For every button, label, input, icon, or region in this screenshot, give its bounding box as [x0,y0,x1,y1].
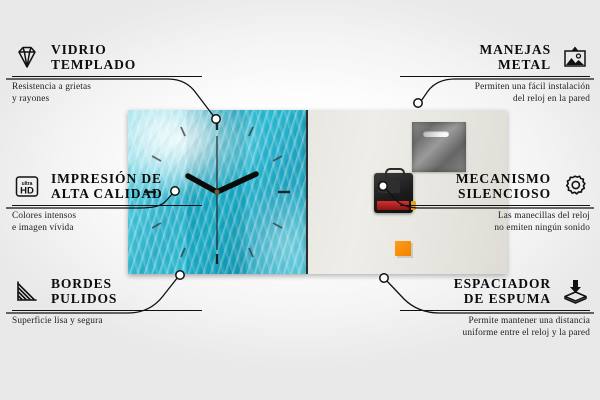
feature-header: MECANISMO SILENCIOSO [400,171,590,202]
feature-title: BORDES PULIDOS [51,276,117,307]
feature-description: Resistencia a grietas y rayones [12,81,202,105]
clock-front-panel [128,110,306,274]
feature-title: MECANISMO SILENCIOSO [456,171,551,202]
foam-spacer-icon [560,278,590,305]
clock-hour-hand [188,176,217,192]
feature-header: MANEJAS METAL [400,42,590,73]
feature-description: Superficie lisa y segura [12,315,202,327]
feature-bordes-pulidos: BORDES PULIDOS Superficie lisa y segura [12,276,202,327]
feature-description: Permiten una fácil instalación del reloj… [400,81,590,105]
feature-title: MANEJAS METAL [479,42,551,73]
clock-minute-hand [217,174,256,192]
gear-icon [560,173,590,200]
feature-divider [12,310,202,311]
feature-description: Las manecillas del reloj no emiten ningú… [400,210,590,234]
clock-center-cap [214,189,219,194]
feature-divider [12,76,202,77]
hanger-slot [423,131,449,137]
diamond-icon [12,44,42,71]
infographic-canvas: VIDRIO TEMPLADO Resistencia a grietas y … [0,0,600,400]
picture-frame-hanging-icon [560,44,590,71]
svg-text:HD: HD [20,185,34,196]
metal-hanger-plate [412,122,466,172]
feature-header: ESPACIADOR DE ESPUMA [400,276,590,307]
feature-manejas-metal: MANEJAS METAL Permiten una fácil instala… [400,42,590,105]
clock-face [128,110,306,274]
ultra-hd-icon: ultra HD [12,173,42,200]
leader-dot-espaciador [380,274,388,282]
foam-spacer-piece [395,241,411,256]
feature-divider [400,205,590,206]
polished-edges-icon [12,278,42,305]
feature-vidrio-templado: VIDRIO TEMPLADO Resistencia a grietas y … [12,42,202,105]
feature-divider [400,76,590,77]
mechanism-body [378,180,400,193]
feature-description: Permite mantener una distancia uniforme … [400,315,590,339]
feature-header: VIDRIO TEMPLADO [12,42,202,73]
feature-title: VIDRIO TEMPLADO [51,42,136,73]
feature-mecanismo-silencioso: MECANISMO SILENCIOSO Las manecillas del … [400,171,590,234]
feature-title: ESPACIADOR DE ESPUMA [454,276,551,307]
feature-espaciador-espuma: ESPACIADOR DE ESPUMA Permite mantener un… [400,276,590,339]
feature-header: BORDES PULIDOS [12,276,202,307]
feature-divider [400,310,590,311]
